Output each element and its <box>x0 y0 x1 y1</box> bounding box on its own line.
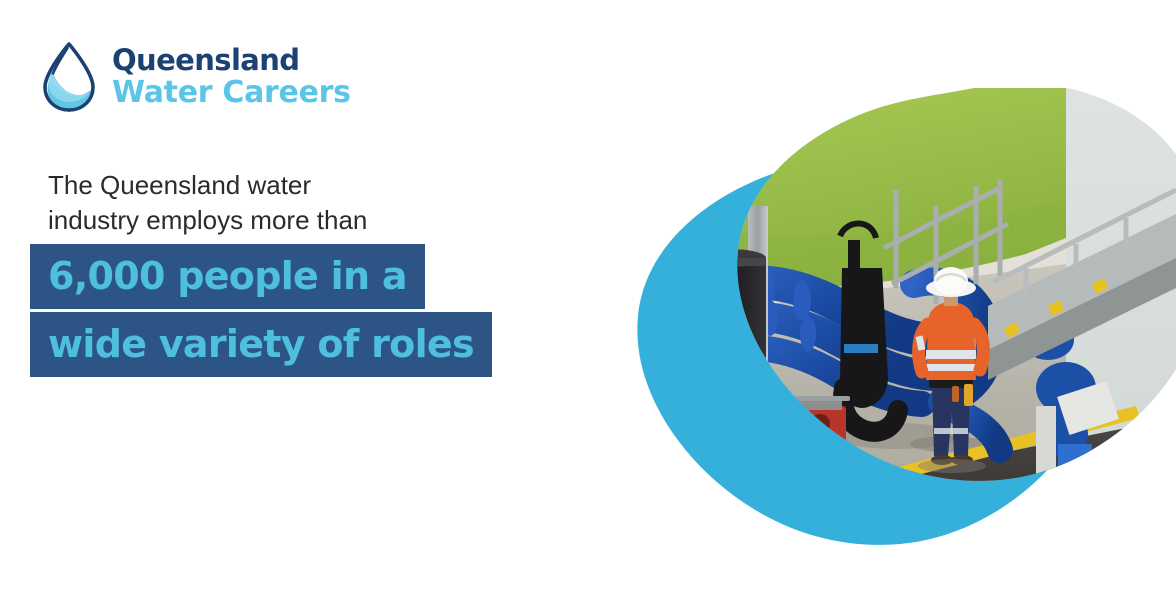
logo-line-water-careers: Water Careers <box>112 78 351 108</box>
intro-text: The Queensland water industry employs mo… <box>30 168 590 238</box>
banner: Queensland Water Careers The Queensland … <box>0 0 1176 594</box>
copy-block: The Queensland water industry employs mo… <box>30 168 590 377</box>
water-droplet-icon <box>40 42 98 112</box>
logo-wordmark: Queensland Water Careers <box>112 46 351 108</box>
headline: 6,000 people in a wide variety of roles <box>30 244 590 377</box>
artwork <box>596 88 1176 558</box>
logo-line-queensland: Queensland <box>112 46 351 75</box>
headline-line-2: wide variety of roles <box>30 312 492 377</box>
white-post <box>1036 406 1056 558</box>
hard-hat-dome <box>934 267 968 295</box>
headline-line-1: 6,000 people in a <box>30 244 425 309</box>
brand-logo[interactable]: Queensland Water Careers <box>40 42 351 112</box>
blue-cabinet <box>1058 444 1092 530</box>
blob-photo-composition <box>596 88 1176 558</box>
